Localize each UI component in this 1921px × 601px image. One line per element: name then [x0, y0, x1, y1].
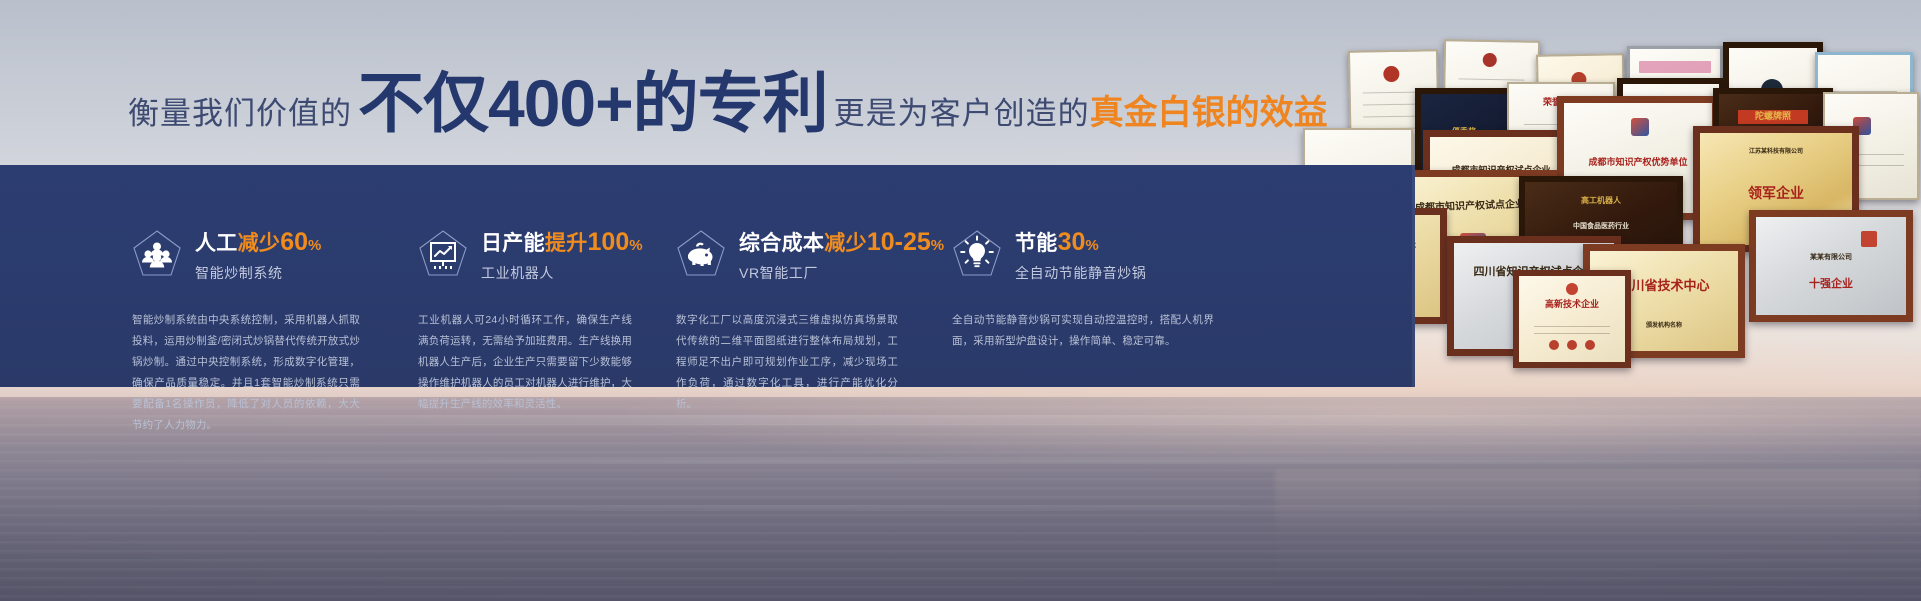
feature-text: 综合成本减少10-25% VR智能工厂 [739, 227, 944, 283]
feature-title-accent: 减少 [238, 232, 281, 255]
feature-subtitle: 智能炒制系统 [195, 263, 322, 283]
feature-subtitle: 全自动节能静音炒锅 [1015, 263, 1146, 283]
feature-panel: 人工减少60% 智能炒制系统 智能炒制系统由中央系统控制，采用机器人抓取投料，运… [0, 165, 1415, 387]
feature-title-prefix: 日产能 [481, 232, 545, 255]
feature-body: 数字化工厂以高度沉浸式三维虚拟仿真场景取代传统的二维平面图纸进行整体布局规划，工… [676, 310, 898, 415]
feature-item-cost-reduction: 综合成本减少10-25% VR智能工厂 数字化工厂以高度沉浸式三维虚拟仿真场景取… [676, 165, 926, 387]
feature-subtitle: 工业机器人 [481, 263, 643, 283]
headline-middle: 更是为客户创造的 [834, 98, 1090, 129]
feature-text: 人工减少60% 智能炒制系统 [195, 227, 322, 283]
feature-item-capacity-increase: 日产能提升100% 工业机器人 工业机器人可24小时循环工作，确保生产线满负荷运… [418, 165, 658, 387]
feature-title-accent: 减少 [824, 232, 867, 255]
feature-title-unit: % [1085, 237, 1099, 254]
headline-emphasis: 不仅400+的专利 [358, 70, 828, 136]
feature-title-number: 60 [280, 228, 308, 256]
feature-item-energy-saving: 节能30% 全自动节能静音炒锅 全自动节能静音炒锅可实现自动控温控时，搭配人机界… [952, 165, 1252, 387]
feature-title-unit: % [308, 237, 322, 254]
feature-subtitle: VR智能工厂 [739, 263, 944, 283]
feature-title-accent: 提升 [545, 232, 588, 255]
piggy-bank-icon [676, 229, 726, 279]
headline-accent: 真金白银的效益 [1090, 96, 1328, 130]
feature-header: 人工减少60% 智能炒制系统 [132, 227, 394, 283]
certificate-item: 某某有限公司 十强企业 [1749, 210, 1913, 322]
feature-title-prefix: 综合成本 [739, 232, 824, 255]
feature-body: 全自动节能静音炒锅可实现自动控温控时，搭配人机界面，采用新型炉盘设计，操作简单、… [952, 310, 1214, 352]
feature-body: 智能炒制系统由中央系统控制，采用机器人抓取投料，运用炒制釜/密闭式炒锅替代传统开… [132, 310, 360, 436]
feature-body: 工业机器人可24小时循环工作，确保生产线满负荷运转，无需给予加班费用。生产线换用… [418, 310, 632, 415]
people-group-icon [132, 229, 182, 279]
feature-text: 节能30% 全自动节能静音炒锅 [1015, 227, 1146, 283]
certificate-label: 十强企业 [1756, 278, 1906, 290]
feature-title-prefix: 人工 [195, 232, 238, 255]
feature-title: 节能30% [1015, 228, 1146, 257]
chart-board-icon [418, 229, 468, 279]
feature-header: 节能30% 全自动节能静音炒锅 [952, 227, 1252, 283]
feature-list: 人工减少60% 智能炒制系统 智能炒制系统由中央系统控制，采用机器人抓取投料，运… [0, 165, 1415, 387]
feature-title: 综合成本减少10-25% [739, 228, 944, 257]
feature-title-number: 30 [1058, 228, 1086, 256]
feature-title-unit: % [931, 237, 945, 254]
feature-title-unit: % [629, 237, 643, 254]
feature-title-number: 100 [588, 228, 630, 256]
feature-header: 日产能提升100% 工业机器人 [418, 227, 658, 283]
feature-header: 综合成本减少10-25% VR智能工厂 [676, 227, 926, 283]
certificate-label: 领军企业 [1700, 187, 1852, 202]
certificate-label: 高新技术企业 [1519, 300, 1625, 310]
certificate-label: 成都市知识产权优势单位 [1564, 158, 1712, 168]
feature-title-prefix: 节能 [1015, 232, 1058, 255]
lightbulb-icon [952, 229, 1002, 279]
feature-title-number: 10-25 [867, 228, 931, 256]
feature-title: 日产能提升100% [481, 228, 643, 257]
feature-item-labor-reduction: 人工减少60% 智能炒制系统 智能炒制系统由中央系统控制，采用机器人抓取投料，运… [132, 165, 394, 387]
certificate-item: 高新技术企业 [1513, 270, 1631, 368]
feature-title: 人工减少60% [195, 228, 322, 257]
headline-lead: 衡量我们价值的 [128, 98, 352, 129]
feature-text: 日产能提升100% 工业机器人 [481, 227, 643, 283]
page-headline: 衡量我们价值的 不仅400+的专利 更是为客户创造的 真金白银的效益 [128, 70, 1328, 148]
